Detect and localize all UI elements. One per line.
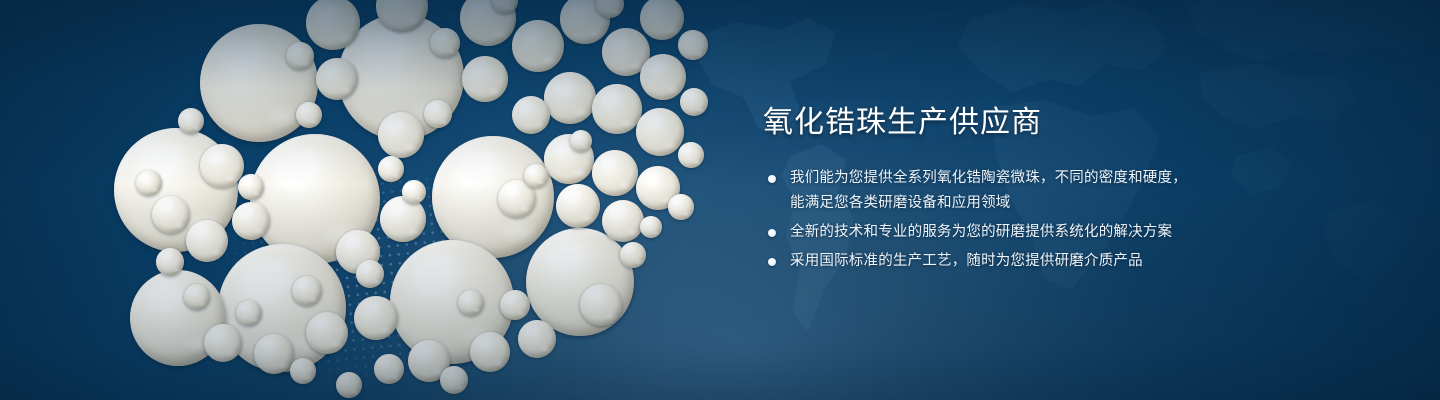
bullet-text: 我们能为您提供全系列氧化锆陶瓷微珠，不同的密度和硬度，能满足您各类研磨设备和应用… <box>790 170 1187 211</box>
background-vignette <box>0 0 1440 400</box>
bullet-item: 全新的技术和专业的服务为您的研磨提供系统化的解决方案 <box>763 220 1191 245</box>
hero-banner: 氧化锆珠生产供应商 我们能为您提供全系列氧化锆陶瓷微珠，不同的密度和硬度，能满足… <box>0 0 1440 400</box>
bullet-dot-icon <box>768 175 776 183</box>
bullet-item: 采用国际标准的生产工艺，随时为您提供研磨介质产品 <box>763 249 1191 274</box>
banner-copy: 氧化锆珠生产供应商 我们能为您提供全系列氧化锆陶瓷微珠，不同的密度和硬度，能满足… <box>763 104 1213 274</box>
bullet-text: 采用国际标准的生产工艺，随时为您提供研磨介质产品 <box>790 253 1143 269</box>
bullet-text: 全新的技术和专业的服务为您的研磨提供系统化的解决方案 <box>790 224 1172 240</box>
bullet-item: 我们能为您提供全系列氧化锆陶瓷微珠，不同的密度和硬度，能满足您各类研磨设备和应用… <box>763 166 1191 216</box>
bullet-dot-icon <box>768 258 776 266</box>
banner-bullet-list: 我们能为您提供全系列氧化锆陶瓷微珠，不同的密度和硬度，能满足您各类研磨设备和应用… <box>763 166 1213 274</box>
bullet-dot-icon <box>768 229 776 237</box>
banner-headline: 氧化锆珠生产供应商 <box>763 104 1213 142</box>
